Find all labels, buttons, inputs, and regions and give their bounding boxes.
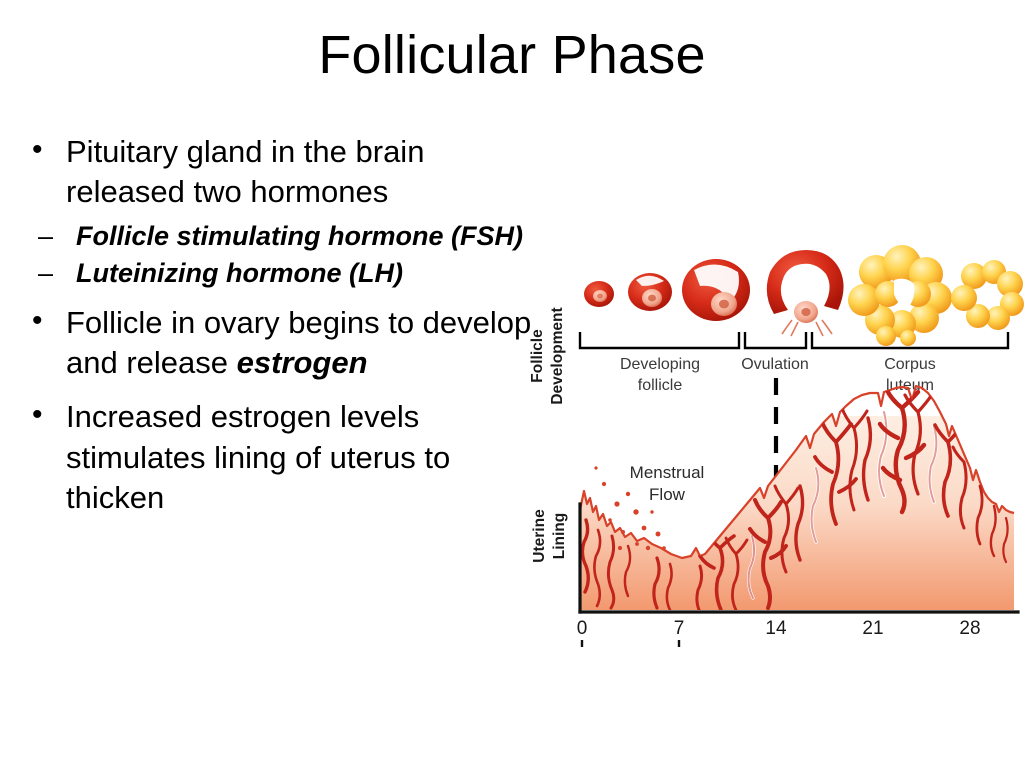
bracket-label-line1: Corpus: [884, 356, 936, 373]
page-title: Follicular Phase: [0, 26, 1024, 85]
x-tick-label: 21: [862, 618, 883, 639]
menstrual-flow-label-line1: Menstrual: [630, 463, 705, 482]
bullet-item-3: • Increased estrogen levels stimulates l…: [22, 397, 542, 518]
follicle-stage-3-icon: [682, 259, 750, 321]
x-axis-tick-labels: 0 7 14 21 28: [577, 618, 981, 647]
bullet-text: Increased estrogen levels stimulates lin…: [66, 399, 450, 515]
uterine-axis-label-line1: Uterine: [531, 509, 548, 563]
bracket-label-line1: Ovulation: [741, 356, 809, 373]
menstrual-flow-annotation: Menstrual Flow: [630, 463, 705, 504]
uterine-lining-axis-label: Uterine Lining: [531, 509, 568, 563]
corpus-luteum-stage-1-icon: [848, 245, 952, 346]
sub-bullet-marker: –: [38, 219, 53, 254]
uterine-lining-area: [574, 386, 1024, 616]
bullet-marker: •: [32, 395, 43, 434]
menstrual-flow-label-line2: Flow: [649, 485, 686, 504]
bullet-marker: •: [32, 130, 43, 169]
menstrual-cycle-diagram: Follicle Development: [524, 236, 1024, 648]
follicle-ovulation-icon: [767, 250, 844, 336]
x-tick-label: 14: [765, 618, 787, 639]
bracket-ovulation: Ovulation: [741, 332, 809, 373]
sub-bullet-item-fsh: – Follicle stimulating hormone (FSH): [22, 219, 542, 254]
uterine-axis-label-line2: Lining: [551, 513, 568, 560]
x-tick-label: 0: [577, 618, 588, 639]
bullet-item-2: • Follicle in ovary begins to develop an…: [22, 303, 542, 384]
x-tick-label: 7: [674, 618, 685, 639]
sub-bullet-text: Luteinizing hormone (LH): [76, 258, 403, 288]
follicle-axis-label-line2: Development: [549, 307, 566, 404]
sub-bullet-group: – Follicle stimulating hormone (FSH) – L…: [22, 219, 542, 291]
follicle-stage-1-icon: [584, 281, 614, 307]
follicle-stage-2-icon: [628, 273, 672, 311]
bullet-item-1: • Pituitary gland in the brain released …: [22, 132, 542, 213]
bracket-label-line1: Developing: [620, 356, 700, 373]
bullet-emphasis-estrogen: estrogen: [237, 345, 368, 380]
sub-bullet-item-lh: – Luteinizing hormone (LH): [22, 256, 542, 291]
bullet-text: Pituitary gland in the brain released tw…: [66, 134, 424, 209]
bullet-marker: •: [32, 301, 43, 340]
x-tick-label: 28: [959, 618, 980, 639]
bracket-developing-follicle: Developing follicle: [580, 332, 739, 394]
bullet-list: • Pituitary gland in the brain released …: [22, 132, 542, 522]
corpus-luteum-stage-2-icon: [951, 260, 1024, 330]
bracket-label-line2: follicle: [638, 377, 683, 394]
follicle-axis-label-line1: Follicle: [529, 329, 546, 383]
sub-bullet-text: Follicle stimulating hormone (FSH): [76, 221, 523, 251]
sub-bullet-marker: –: [38, 256, 53, 291]
follicle-development-axis-label: Follicle Development: [529, 307, 566, 404]
